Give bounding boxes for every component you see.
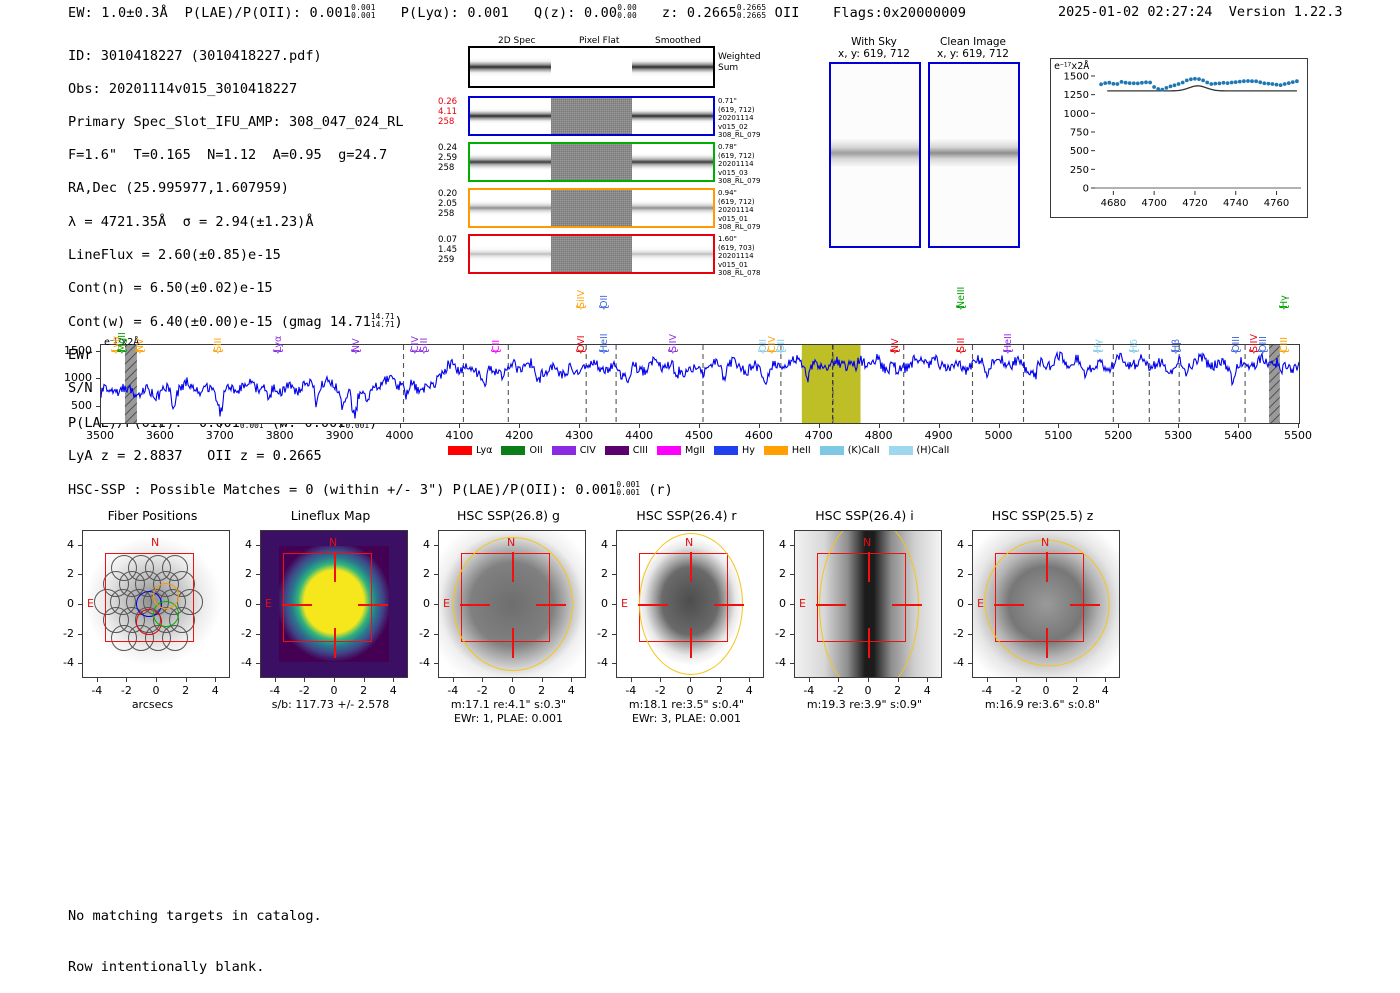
legend-label: Hy [742, 445, 755, 456]
panel-y-tick [78, 663, 82, 664]
crosshair-top [512, 552, 514, 582]
crosshair-left [282, 604, 312, 606]
main-x-tick-label: 4800 [862, 429, 896, 442]
panel-x-tick [97, 678, 98, 682]
crosshair-right [892, 604, 922, 606]
aperture-box [105, 553, 194, 642]
spec2d-cell [470, 98, 551, 134]
bottom-panel-title: HSC SSP(26.8) g [416, 508, 601, 523]
main-x-tick-label: 5200 [1101, 429, 1135, 442]
panel-x-axis-label: arcsecs [60, 698, 245, 712]
info-primary-spec: Primary Spec_Slot_IFU_AMP: 308_047_024_R… [68, 114, 404, 131]
panel-x-tick-label: -2 [470, 684, 494, 697]
legend-swatch [448, 446, 472, 455]
legend-item: OII [501, 445, 542, 456]
east-label: E [799, 597, 806, 610]
svg-text:4720: 4720 [1182, 198, 1207, 209]
main-x-tick [400, 424, 401, 428]
spec2d-cell [551, 190, 632, 226]
main-x-tick-label: 3900 [323, 429, 357, 442]
emission-line-bracket: { [349, 348, 362, 355]
panel-y-tick [434, 604, 438, 605]
emission-line-bracket: { [115, 348, 128, 355]
crosshair-right [714, 604, 744, 606]
panel-y-tick-label: 4 [762, 538, 786, 551]
panel-x-tick-label: -4 [797, 684, 821, 697]
panel-x-tick [1016, 678, 1017, 682]
panel-y-tick-label: 0 [940, 597, 964, 610]
main-x-tick [879, 424, 880, 428]
main-x-tick-label: 4400 [622, 429, 656, 442]
legend-item: (H)CalI [889, 445, 950, 456]
panel-x-tick [571, 678, 572, 682]
panel-x-tick-label: 0 [144, 684, 168, 697]
info-cont-w: Cont(w) = 6.40(±0.00)e-15 (gmag 14.7114.… [68, 313, 404, 330]
panel-y-tick [790, 604, 794, 605]
panel-x-tick-label: 0 [1034, 684, 1058, 697]
panel-y-tick-label: -4 [762, 656, 786, 669]
spec2d-fiber-row [468, 234, 715, 274]
main-x-tick-label: 3500 [83, 429, 117, 442]
spec2d-cell [551, 48, 632, 86]
header-plae-frac: 0.0010.001 [351, 4, 376, 20]
main-y-tick [96, 378, 100, 379]
bottom-panel-image[interactable]: NE [438, 530, 586, 678]
east-label: E [443, 597, 450, 610]
north-label: N [1041, 536, 1049, 549]
svg-text:1000: 1000 [1064, 109, 1089, 120]
panel-y-tick-label: 0 [228, 597, 252, 610]
emission-line-bracket: { [1127, 348, 1140, 355]
panel-caption: m:17.1 re:4.1" s:0.3" [416, 698, 601, 712]
panel-x-tick [809, 678, 810, 682]
panel-y-tick-label: 0 [406, 597, 430, 610]
panel-y-tick-label: 2 [762, 567, 786, 580]
emission-line-bracket: { [1091, 348, 1104, 355]
panel-x-tick [690, 678, 691, 682]
header-summary-line: EW: 1.0±0.3Å P(LAE)/P(OII): 0.0010.0010.… [68, 4, 966, 21]
panel-x-tick [720, 678, 721, 682]
panel-x-tick [1076, 678, 1077, 682]
panel-x-tick [868, 678, 869, 682]
header-meta: 2025-01-02 02:27:24 Version 1.22.3 [1058, 4, 1343, 20]
panel-x-tick [453, 678, 454, 682]
spec2d-title-pixelflat: Pixel Flat [579, 36, 619, 46]
panel-y-tick [968, 634, 972, 635]
legend-item: HeII [764, 445, 811, 456]
bottom-panel-image[interactable]: NE [82, 530, 230, 678]
crosshair-left [816, 604, 846, 606]
main-x-tick-label: 4100 [442, 429, 476, 442]
east-label: E [621, 597, 628, 610]
main-x-tick [519, 424, 520, 428]
panel-y-tick-label: 0 [762, 597, 786, 610]
panel-y-tick [612, 634, 616, 635]
spec2d-cell [632, 48, 713, 86]
emission-line-bracket: { [1229, 348, 1242, 355]
panel-y-tick [612, 663, 616, 664]
header-z-species: OII [775, 5, 800, 21]
north-label: N [329, 536, 337, 549]
emission-line-bracket: { [1001, 348, 1014, 355]
main-x-tick-label: 5400 [1221, 429, 1255, 442]
emission-line-bracket: { [774, 348, 787, 355]
svg-text:4700: 4700 [1141, 198, 1166, 209]
panel-y-tick-label: -2 [940, 627, 964, 640]
main-x-tick [459, 424, 460, 428]
main-x-tick [1118, 424, 1119, 428]
main-x-tick [100, 424, 101, 428]
bottom-panel-image[interactable]: NE [972, 530, 1120, 678]
info-seeing: F=1.6" T=0.165 N=1.12 A=0.95 g=24.7 [68, 147, 404, 164]
spec2d-cell [632, 144, 713, 180]
full-spectrum-plot [100, 344, 1300, 424]
crosshair-top [334, 552, 336, 582]
svg-text:0: 0 [1083, 184, 1089, 195]
east-label: E [265, 597, 272, 610]
bottom-panel-title: HSC SSP(26.4) r [594, 508, 779, 523]
emission-line-bracket: { [417, 348, 430, 355]
crosshair-right [358, 604, 388, 606]
panel-x-tick [126, 678, 127, 682]
legend-label: Lyα [476, 445, 492, 456]
panel-caption: m:19.3 re:3.9" s:0.9" [772, 698, 957, 712]
panel-y-tick [256, 545, 260, 546]
panel-y-tick [790, 545, 794, 546]
panel-x-tick [482, 678, 483, 682]
spec2d-weighted-sum-row [468, 46, 715, 88]
legend-label: CIII [633, 445, 648, 456]
panel-y-tick-label: -2 [228, 627, 252, 640]
panel-y-tick [790, 663, 794, 664]
legend-swatch [552, 446, 576, 455]
main-x-tick-label: 3600 [143, 429, 177, 442]
panel-y-tick-label: -2 [406, 627, 430, 640]
emission-line-bracket: { [1169, 348, 1182, 355]
panel-x-tick [364, 678, 365, 682]
emission-line-bracket: { [954, 304, 967, 311]
panel-y-tick-label: -2 [584, 627, 608, 640]
panel-x-tick [987, 678, 988, 682]
emission-line-bracket: { [666, 348, 679, 355]
aperture-box [283, 553, 372, 642]
crosshair-top [1046, 552, 1048, 582]
main-x-tick-label: 5500 [1281, 429, 1315, 442]
panel-x-tick-label: 4 [559, 684, 583, 697]
panel-x-tick [334, 678, 335, 682]
crosshair-right [536, 604, 566, 606]
panel-x-tick [512, 678, 513, 682]
emission-line-bracket: { [574, 348, 587, 355]
panel-y-tick-label: 2 [940, 567, 964, 580]
cleanimage-image [928, 62, 1020, 248]
panel-x-tick-label: 4 [1093, 684, 1117, 697]
info-obs: Obs: 20201114v015_3010418227 [68, 81, 404, 98]
panel-x-tick-label: 0 [322, 684, 346, 697]
header-ew: EW: 1.0±0.3Å [68, 5, 168, 21]
panel-y-tick-label: 2 [50, 567, 74, 580]
main-x-tick-label: 5100 [1041, 429, 1075, 442]
spec2d-row-right-meta: 0.78"(619, 712)20201114v015_03308_RL_079 [718, 143, 780, 186]
panel-x-tick-label: -4 [975, 684, 999, 697]
legend-label: OII [529, 445, 542, 456]
header-plae-label: P(LAE)/P(OII): [185, 5, 302, 21]
panel-x-tick [1046, 678, 1047, 682]
main-x-tick [699, 424, 700, 428]
header-qz-value: 0.00 [584, 5, 617, 21]
bottom-panel-title: HSC SSP(26.4) i [772, 508, 957, 523]
main-x-tick-label: 5300 [1161, 429, 1195, 442]
header-qz-label: Q(z): [534, 5, 576, 21]
spec2d-title-smoothed: Smoothed [655, 36, 701, 46]
spec2d-cell [632, 190, 713, 226]
panel-x-tick [186, 678, 187, 682]
panel-x-tick-label: 2 [352, 684, 376, 697]
main-x-tick [939, 424, 940, 428]
footer-line-1: No matching targets in catalog. [68, 908, 322, 925]
legend-swatch [764, 446, 788, 455]
emission-line-bracket: { [1256, 348, 1269, 355]
panel-y-tick [256, 574, 260, 575]
panel-x-tick-label: -2 [1004, 684, 1028, 697]
spec2d-cell [632, 98, 713, 134]
footer-line-2: Row intentionally blank. [68, 959, 322, 976]
bottom-panel-image[interactable]: NE [260, 530, 408, 678]
panel-x-tick-label: -4 [619, 684, 643, 697]
emission-line-bracket: { [271, 348, 284, 355]
spec2d-fiber-row [468, 188, 715, 228]
main-x-tick-label: 4600 [742, 429, 776, 442]
legend-item: Hy [714, 445, 755, 456]
main-x-tick [280, 424, 281, 428]
zoom-units-label: e−17x2Å [1054, 61, 1089, 72]
main-x-tick [1178, 424, 1179, 428]
svg-text:250: 250 [1070, 165, 1089, 176]
zoom-spectrum-plot: 0250500750100012501500468047004720474047… [1050, 58, 1308, 218]
panel-y-tick [434, 663, 438, 664]
panel-x-tick-label: 2 [708, 684, 732, 697]
legend-swatch [889, 446, 913, 455]
emission-line-bracket: { [574, 304, 587, 311]
panel-y-tick [256, 634, 260, 635]
main-x-tick [340, 424, 341, 428]
crosshair-bottom [690, 628, 692, 658]
panel-x-tick [898, 678, 899, 682]
svg-text:4680: 4680 [1101, 198, 1126, 209]
panel-caption: m:16.9 re:3.6" s:0.8" [950, 698, 1135, 712]
spec2d-row-left-stats: 0.264.11258 [438, 97, 468, 127]
emission-line-bracket: { [133, 348, 146, 355]
panel-y-tick [968, 604, 972, 605]
main-x-tick [1058, 424, 1059, 428]
spec2d-row-right-meta: 1.60"(619, 703)20201114v015_01308_RL_078 [718, 235, 780, 278]
panel-y-tick-label: -2 [762, 627, 786, 640]
legend-label: (H)CalI [917, 445, 950, 456]
main-y-tick-label: 1000 [48, 371, 92, 384]
panel-y-tick-label: -4 [50, 656, 74, 669]
panel-x-tick [660, 678, 661, 682]
emission-line-bracket: { [954, 348, 967, 355]
panel-y-tick-label: -4 [228, 656, 252, 669]
legend-swatch [605, 446, 629, 455]
main-y-tick [96, 351, 100, 352]
panel-x-tick-label: 2 [174, 684, 198, 697]
panel-x-tick-label: 0 [500, 684, 524, 697]
panel-y-tick-label: 2 [584, 567, 608, 580]
panel-x-tick [156, 678, 157, 682]
panel-y-tick [968, 574, 972, 575]
info-radec: RA,Dec (25.995977,1.607959) [68, 180, 404, 197]
panel-y-tick-label: 0 [50, 597, 74, 610]
main-y-tick-label: 500 [48, 399, 92, 412]
panel-y-tick-label: 2 [406, 567, 430, 580]
panel-y-tick-label: 4 [50, 538, 74, 551]
panel-x-tick-label: 0 [856, 684, 880, 697]
spec2d-cell [551, 144, 632, 180]
main-x-tick-label: 4500 [682, 429, 716, 442]
header-z-value: 0.2665 [687, 5, 737, 21]
panel-y-tick [78, 604, 82, 605]
main-x-tick [999, 424, 1000, 428]
main-y-tick-label: 1500 [48, 344, 92, 357]
main-x-tick [160, 424, 161, 428]
panel-y-tick [612, 604, 616, 605]
panel-x-tick-label: -2 [648, 684, 672, 697]
east-label: E [87, 597, 94, 610]
emission-line-bracket: { [888, 348, 901, 355]
panel-x-tick-label: 2 [886, 684, 910, 697]
panel-y-tick-label: 4 [940, 538, 964, 551]
header-plae-value: 0.001 [310, 5, 352, 21]
panel-y-tick [790, 634, 794, 635]
panel-caption: s/b: 117.73 +/- 2.578 [238, 698, 423, 712]
header-version: Version 1.22.3 [1229, 4, 1343, 20]
legend-label: MgII [685, 445, 705, 456]
spec2d-row-left-stats: 0.242.59258 [438, 143, 468, 173]
panel-y-tick [612, 574, 616, 575]
main-x-tick-label: 3700 [203, 429, 237, 442]
panel-y-tick [256, 604, 260, 605]
panel-caption: m:18.1 re:3.5" s:0.4" [594, 698, 779, 712]
panel-y-tick-label: -4 [940, 656, 964, 669]
bottom-panel-image[interactable]: NE [794, 530, 942, 678]
panel-x-tick [275, 678, 276, 682]
spectrum-legend: LyαOIICIVCIIIMgIIHyHeII(K)CalI(H)CalI [448, 445, 949, 456]
legend-label: (K)CalI [848, 445, 880, 456]
legend-item: (K)CalI [820, 445, 880, 456]
panel-x-tick-label: 2 [530, 684, 554, 697]
footer-note: No matching targets in catalog. Row inte… [68, 874, 322, 993]
panel-x-tick [304, 678, 305, 682]
crosshair-top [868, 552, 870, 582]
crosshair-bottom [512, 628, 514, 658]
panel-y-tick-label: -4 [584, 656, 608, 669]
crosshair-left [994, 604, 1024, 606]
panel-y-tick-label: 0 [584, 597, 608, 610]
panel-x-tick [215, 678, 216, 682]
spec2d-row-left-stats: 0.071.45259 [438, 235, 468, 265]
info-id: ID: 3010418227 (3010418227.pdf) [68, 48, 404, 65]
svg-text:1500: 1500 [1064, 71, 1089, 82]
crosshair-left [638, 604, 668, 606]
crosshair-left [460, 604, 490, 606]
panel-y-tick-label: 4 [584, 538, 608, 551]
panel-x-tick-label: 4 [203, 684, 227, 697]
main-x-tick-label: 3800 [263, 429, 297, 442]
panel-x-tick [631, 678, 632, 682]
crosshair-right [1070, 604, 1100, 606]
north-label: N [863, 536, 871, 549]
header-plya-value: 0.001 [467, 5, 509, 21]
emission-line-bracket: { [211, 348, 224, 355]
spec2d-row-left-stats: 0.202.05258 [438, 189, 468, 219]
main-x-tick [1238, 424, 1239, 428]
legend-swatch [714, 446, 738, 455]
spec2d-cell [632, 236, 713, 272]
panel-caption: EWr: 1, PLAE: 0.001 [416, 712, 601, 726]
info-wavelength: λ = 4721.35Å σ = 2.94(±1.23)Å [68, 214, 404, 231]
panel-y-tick [434, 634, 438, 635]
panel-y-tick [78, 545, 82, 546]
emission-line-bracket: { [1277, 304, 1290, 311]
panel-y-tick-label: 2 [228, 567, 252, 580]
header-plya-label: P(Lyα): [401, 5, 459, 21]
main-x-tick-label: 4000 [383, 429, 417, 442]
panel-y-tick-label: 4 [406, 538, 430, 551]
panel-x-tick [542, 678, 543, 682]
svg-text:500: 500 [1070, 146, 1089, 157]
svg-text:1250: 1250 [1064, 90, 1089, 101]
panel-x-tick-label: 4 [915, 684, 939, 697]
panel-x-tick-label: 4 [381, 684, 405, 697]
main-x-tick-label: 4700 [802, 429, 836, 442]
emission-line-bracket: { [597, 304, 610, 311]
panel-x-tick-label: 4 [737, 684, 761, 697]
panel-x-tick-label: -2 [292, 684, 316, 697]
legend-swatch [820, 446, 844, 455]
legend-label: HeII [792, 445, 811, 456]
panel-x-tick [927, 678, 928, 682]
svg-text:4760: 4760 [1264, 198, 1289, 209]
bottom-panel-title: Fiber Positions [60, 508, 245, 523]
bottom-panel-title: Lineflux Map [238, 508, 423, 523]
spec2d-row-right-meta: 0.71"(619, 712)20201114v015_02308_RL_079 [718, 97, 780, 140]
info-cont-n: Cont(n) = 6.50(±0.02)e-15 [68, 280, 404, 297]
header-z-frac: 0.26650.2665 [737, 4, 766, 20]
withsky-image [829, 62, 921, 248]
panel-y-tick [434, 574, 438, 575]
panel-x-tick-label: 0 [678, 684, 702, 697]
panel-y-tick [790, 574, 794, 575]
panel-caption: EWr: 3, PLAE: 0.001 [594, 712, 779, 726]
main-x-tick-label: 4300 [562, 429, 596, 442]
bottom-panel-image[interactable]: NE [616, 530, 764, 678]
panel-x-tick [838, 678, 839, 682]
bottom-panel-title: HSC SSP(25.5) z [950, 508, 1135, 523]
main-x-tick-label: 4200 [502, 429, 536, 442]
spec2d-cell [470, 144, 551, 180]
legend-item: Lyα [448, 445, 492, 456]
spec2d-cell [551, 236, 632, 272]
panel-y-tick [968, 545, 972, 546]
main-x-tick [1298, 424, 1299, 428]
crosshair-bottom [334, 628, 336, 658]
spec2d-fiber-row [468, 142, 715, 182]
spec2d-cell [470, 190, 551, 226]
spec2d-panel: 2D Spec Pixel Flat Smoothed WeightedSum0… [440, 36, 780, 251]
spec2d-row-right-meta: 0.94"(619, 712)20201114v015_01308_RL_079 [718, 189, 780, 232]
north-label: N [151, 536, 159, 549]
